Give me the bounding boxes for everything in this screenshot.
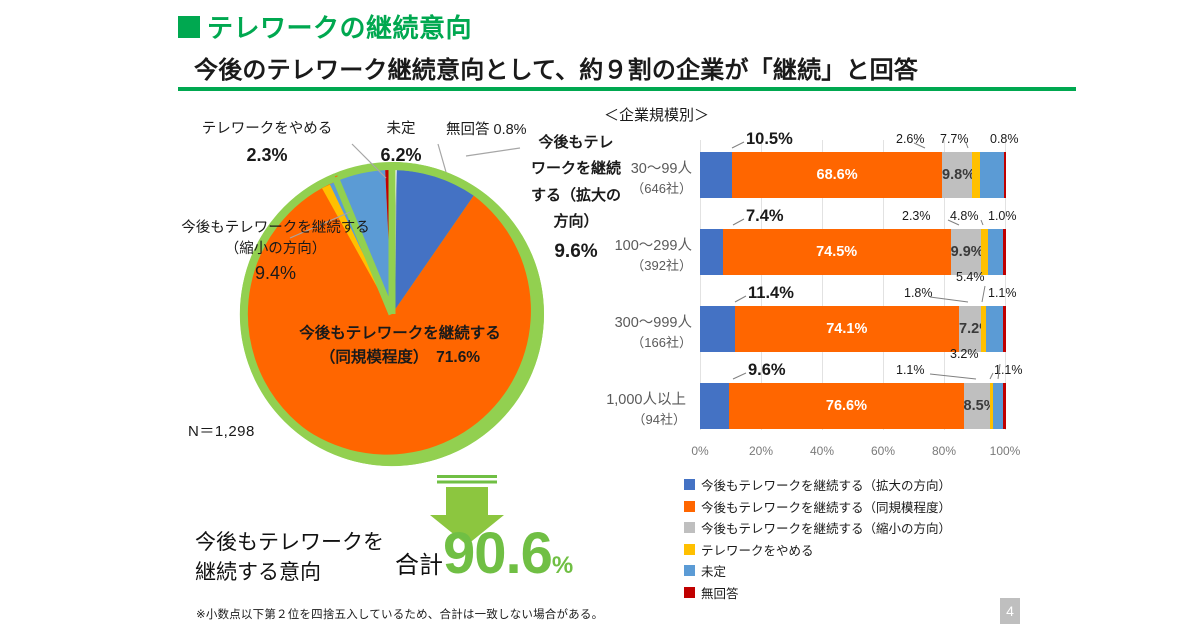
pie-callout-reduce-label-1: 今後もテレワークを継続する [168, 218, 383, 239]
bar-outside-label-undecided: 3.2% [950, 347, 979, 361]
legend-swatch-expand-icon [684, 479, 695, 490]
footnote: ※小数点以下第２位を四捨五入しているため、合計は一致しない場合がある。 [196, 606, 603, 622]
bar-seg-same-label: 74.1% [735, 321, 960, 337]
bar-outside-label-noanswer: 1.0% [988, 209, 1017, 223]
legend-label-undecided: 未定 [701, 561, 726, 580]
x-tick-0: 0% [691, 444, 708, 458]
bar-seg-noanswer[interactable] [1003, 229, 1006, 275]
bar-row-category-sub: （94社） [590, 411, 686, 429]
bar-chart-title: ＜企業規模別＞ [604, 104, 1036, 125]
pie-callout-undecided: 未定 6.2% [366, 118, 436, 170]
bar-seg-noanswer[interactable] [1003, 383, 1006, 429]
bar-seg-reduce-label: 9.8% [942, 167, 972, 183]
legend-swatch-same-icon [684, 501, 695, 512]
bar-row[interactable]: 76.6% 8.5% [700, 383, 1006, 429]
x-tick-40: 40% [810, 444, 834, 458]
legend-label-expand: 今後もテレワークを継続する（拡大の方向） [701, 475, 951, 494]
bar-outside-label-undecided: 7.7% [940, 132, 969, 146]
bar-row[interactable]: 74.1% 7.2% [700, 306, 1006, 352]
bar-seg-undecided[interactable] [980, 152, 1004, 198]
slide-root: テレワークの継続意向 今後のテレワーク継続意向として、約９割の企業が「継続」と回… [0, 0, 1200, 630]
page-number: 4 [1000, 598, 1020, 624]
pie-callout-reduce: 今後もテレワークを継続する （縮小の方向） 9.4% [168, 218, 383, 286]
legend-label-same: 今後もテレワークを継続する（同規模程度） [701, 497, 951, 516]
summary-total-value: 90.6 [443, 525, 552, 583]
bar-row-category-sub: （646社） [596, 180, 692, 198]
bar-seg-expand[interactable] [700, 229, 723, 275]
legend-item-expand[interactable]: 今後もテレワークを継続する（拡大の方向） [684, 474, 951, 496]
summary-total: 合計 90.6 % [395, 525, 573, 583]
bar-outside-label-expand: 11.4% [748, 284, 794, 303]
bar-row-category: 1,000人以上 （94社） [590, 391, 686, 428]
legend-swatch-reduce-icon [684, 522, 695, 533]
bar-seg-same[interactable]: 74.5% [723, 229, 951, 275]
legend-swatch-undecided-icon [684, 565, 695, 576]
pie-callout-reduce-value: 9.4% [168, 260, 383, 286]
page-title: テレワークの継続意向 [207, 8, 472, 45]
bar-row[interactable]: 68.6% 9.8% [700, 152, 1006, 198]
bar-row[interactable]: 74.5% 9.9% [700, 229, 1006, 275]
bar-row-category: 300〜999人 （166社） [596, 314, 692, 351]
pie-callout-stop-label: テレワークをやめる [182, 118, 352, 141]
legend-item-undecided[interactable]: 未定 [684, 560, 951, 582]
bar-seg-same[interactable]: 68.6% [732, 152, 942, 198]
bar-seg-reduce[interactable]: 9.9% [951, 229, 981, 275]
bar-seg-stop[interactable] [972, 152, 980, 198]
page-subtitle: 今後のテレワーク継続意向として、約９割の企業が「継続」と回答 [194, 50, 1078, 85]
legend-item-noanswer[interactable]: 無回答 [684, 582, 951, 604]
bar-seg-same[interactable]: 76.6% [729, 383, 963, 429]
bar-chart-plot: 68.6% 9.8% 30〜99人 （646社） 10.5% 2.6% 7.7%… [700, 140, 1006, 444]
legend-item-same[interactable]: 今後もテレワークを継続する（同規模程度） [684, 496, 951, 518]
bar-seg-undecided[interactable] [988, 229, 1003, 275]
bar-outside-label-stop: 1.1% [896, 363, 925, 377]
bar-seg-undecided[interactable] [986, 306, 1002, 352]
bar-seg-same[interactable]: 74.1% [735, 306, 960, 352]
legend-label-stop: テレワークをやめる [701, 540, 814, 559]
summary-total-label: 合計 [395, 545, 443, 580]
x-tick-60: 60% [871, 444, 895, 458]
bar-seg-reduce-label: 9.9% [951, 244, 981, 260]
bar-seg-reduce[interactable]: 7.2% [959, 306, 981, 352]
bar-outside-label-undecided: 4.8% [950, 209, 979, 223]
bar-seg-same-label: 76.6% [729, 398, 963, 414]
bar-outside-label-expand: 10.5% [746, 130, 793, 149]
legend-swatch-noanswer-icon [684, 587, 695, 598]
bar-row-category-name: 1,000人以上 [590, 391, 686, 411]
bar-outside-label-expand: 7.4% [746, 207, 784, 226]
bar-chart-section: ＜企業規模別＞ 68.6% 9.8% [596, 104, 1036, 464]
pie-chart-svg [222, 136, 562, 476]
chart-legend: 今後もテレワークを継続する（拡大の方向） 今後もテレワークを継続する（同規模程度… [684, 474, 951, 603]
pie-callout-reduce-label-2: （縮小の方向） [168, 239, 383, 260]
legend-label-reduce: 今後もテレワークを継続する（縮小の方向） [701, 518, 951, 537]
bar-outside-label-noanswer: 1.1% [994, 363, 1023, 377]
bar-seg-same-label: 68.6% [732, 167, 942, 183]
bar-seg-expand[interactable] [700, 152, 732, 198]
x-tick-20: 20% [749, 444, 773, 458]
bar-outside-label-stop: 2.3% [902, 209, 931, 223]
bar-outside-label-stop: 1.8% [904, 286, 933, 300]
bar-seg-reduce-label: 7.2% [959, 321, 981, 337]
bar-row-category: 30〜99人 （646社） [596, 160, 692, 197]
x-tick-100: 100% [990, 444, 1021, 458]
summary-left-line2: 継続する意向 [195, 558, 395, 588]
summary-left-line1: 今後もテレワークを [195, 528, 395, 558]
pie-callout-stop: テレワークをやめる 2.3% [182, 118, 352, 170]
bar-seg-reduce[interactable]: 9.8% [942, 152, 972, 198]
bar-row-category-sub: （392社） [596, 257, 692, 275]
pie-chart-section: テレワークをやめる 2.3% 未定 6.2% 無回答 0.8% 今後もテレワーク… [170, 100, 610, 480]
legend-swatch-stop-icon [684, 544, 695, 555]
summary-left-text: 今後もテレワークを 継続する意向 [195, 528, 395, 589]
bar-seg-expand[interactable] [700, 306, 735, 352]
bar-seg-undecided[interactable] [993, 383, 1003, 429]
bar-seg-reduce-label: 8.5% [964, 398, 990, 414]
slide-header: テレワークの継続意向 今後のテレワーク継続意向として、約９割の企業が「継続」と回… [178, 8, 1078, 85]
header-divider [178, 87, 1076, 91]
bar-seg-stop[interactable] [981, 229, 988, 275]
bar-outside-label-stop: 2.6% [896, 132, 925, 146]
bar-outside-label-noanswer: 0.8% [990, 132, 1019, 146]
bar-seg-expand[interactable] [700, 383, 729, 429]
bar-outside-label-expand: 9.6% [748, 361, 786, 380]
bar-seg-noanswer[interactable] [1003, 306, 1006, 352]
pie-chart [222, 136, 562, 476]
bar-row-category-name: 300〜999人 [596, 314, 692, 334]
bar-outside-label-noanswer: 1.1% [988, 286, 1017, 300]
header-title-row: テレワークの継続意向 [178, 8, 1078, 45]
bar-row-category-name: 30〜99人 [596, 160, 692, 180]
pie-sample-size: N＝1,298 [188, 420, 255, 441]
bar-row-category-sub: （166社） [596, 334, 692, 352]
bar-row-category: 100〜299人 （392社） [596, 237, 692, 274]
bar-seg-noanswer[interactable] [1004, 152, 1006, 198]
summary-total-unit: % [552, 552, 573, 580]
legend-label-noanswer: 無回答 [701, 583, 739, 602]
pie-callout-undecided-label: 未定 [366, 118, 436, 141]
legend-item-reduce[interactable]: 今後もテレワークを継続する（縮小の方向） [684, 517, 951, 539]
bar-row-category-name: 100〜299人 [596, 237, 692, 257]
x-tick-80: 80% [932, 444, 956, 458]
bar-outside-label-undecided: 5.4% [956, 270, 985, 284]
pie-callout-undecided-value: 6.2% [366, 141, 436, 170]
pie-callout-stop-value: 2.3% [182, 141, 352, 170]
bar-seg-same-label: 74.5% [723, 244, 951, 260]
green-square-bullet-icon [178, 16, 200, 38]
legend-item-stop[interactable]: テレワークをやめる [684, 539, 951, 561]
bar-seg-reduce[interactable]: 8.5% [964, 383, 990, 429]
